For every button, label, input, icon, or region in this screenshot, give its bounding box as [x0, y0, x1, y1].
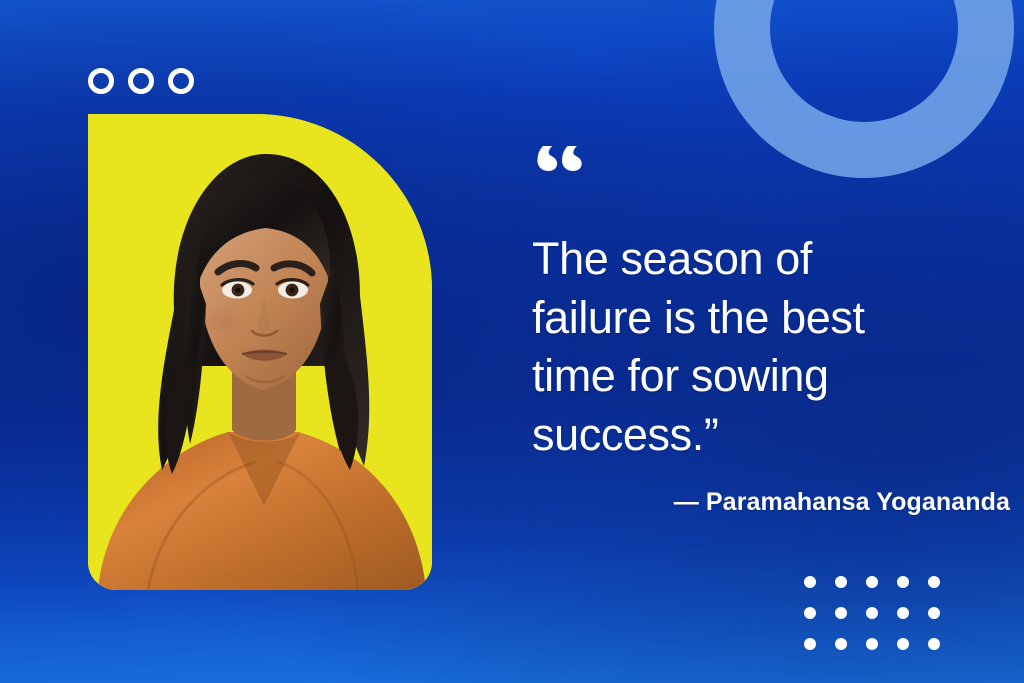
grid-dot [866, 638, 878, 650]
quote-attribution: — Paramahansa Yogananda [532, 488, 1018, 517]
grid-dot [866, 607, 878, 619]
grid-dot [897, 638, 909, 650]
quote-text: The season of failure is the best time f… [532, 230, 1018, 464]
grid-dot [804, 576, 816, 588]
grid-dot [835, 607, 847, 619]
quote-column: “ The season of failure is the best time… [532, 146, 1018, 517]
grid-dot [835, 638, 847, 650]
grid-dot [897, 607, 909, 619]
dot-grid-decoration [804, 576, 940, 650]
portrait-photo [88, 114, 432, 590]
ring-3-icon [168, 68, 194, 94]
ring-dots-decoration [88, 68, 194, 94]
grid-dot [804, 638, 816, 650]
ring-1-icon [88, 68, 114, 94]
grid-dot [804, 607, 816, 619]
grid-dot [928, 638, 940, 650]
grid-dot [866, 576, 878, 588]
grid-dot [897, 576, 909, 588]
portrait-block [88, 114, 432, 590]
grid-dot [835, 576, 847, 588]
grid-dot [928, 607, 940, 619]
open-quote-icon: “ [532, 146, 1018, 204]
ring-2-icon [128, 68, 154, 94]
grid-dot [928, 576, 940, 588]
quote-card: “ The season of failure is the best time… [0, 0, 1024, 683]
